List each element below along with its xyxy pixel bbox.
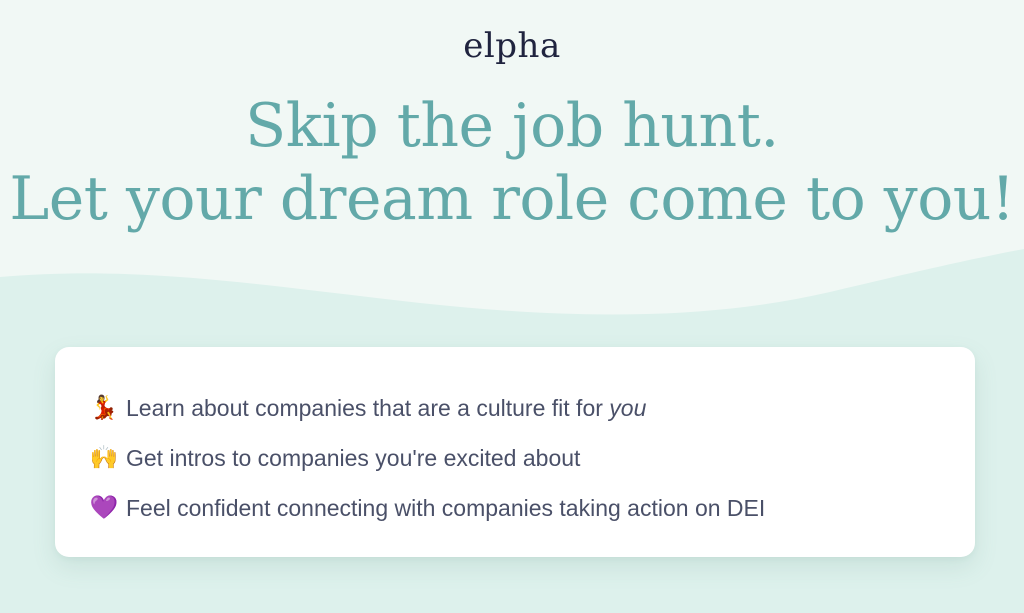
- benefit-text-1: Learn about companies that are a culture…: [126, 393, 646, 423]
- benefit-text-2: Get intros to companies you're excited a…: [126, 443, 580, 473]
- landing-page: elpha Skip the job hunt. Let your dream …: [0, 0, 1024, 613]
- raising-hands-emoji: 🙌: [82, 447, 126, 470]
- elpha-logo[interactable]: elpha: [463, 26, 560, 66]
- benefits-card: 💃 Learn about companies that are a cultu…: [55, 347, 975, 557]
- benefits-list: 💃 Learn about companies that are a cultu…: [82, 383, 935, 533]
- hero-headline: Skip the job hunt. Let your dream role c…: [0, 90, 1024, 236]
- page-header: elpha: [0, 0, 1024, 66]
- list-item: 💃 Learn about companies that are a cultu…: [82, 383, 935, 433]
- benefit-text-3-main: Feel confident connecting with companies…: [126, 495, 765, 521]
- benefit-text-1-emphasis: you: [609, 395, 646, 421]
- benefit-text-3: Feel confident connecting with companies…: [126, 493, 765, 523]
- headline-line-1: Skip the job hunt.: [0, 90, 1024, 162]
- purple-heart-emoji: 💜: [82, 497, 126, 520]
- list-item: 💜 Feel confident connecting with compani…: [82, 483, 935, 533]
- dancer-emoji: 💃: [82, 397, 126, 420]
- headline-line-2: Let your dream role come to you!: [0, 162, 1024, 236]
- benefit-text-1-main: Learn about companies that are a culture…: [126, 395, 609, 421]
- benefit-text-2-main: Get intros to companies you're excited a…: [126, 445, 580, 471]
- list-item: 🙌 Get intros to companies you're excited…: [82, 433, 935, 483]
